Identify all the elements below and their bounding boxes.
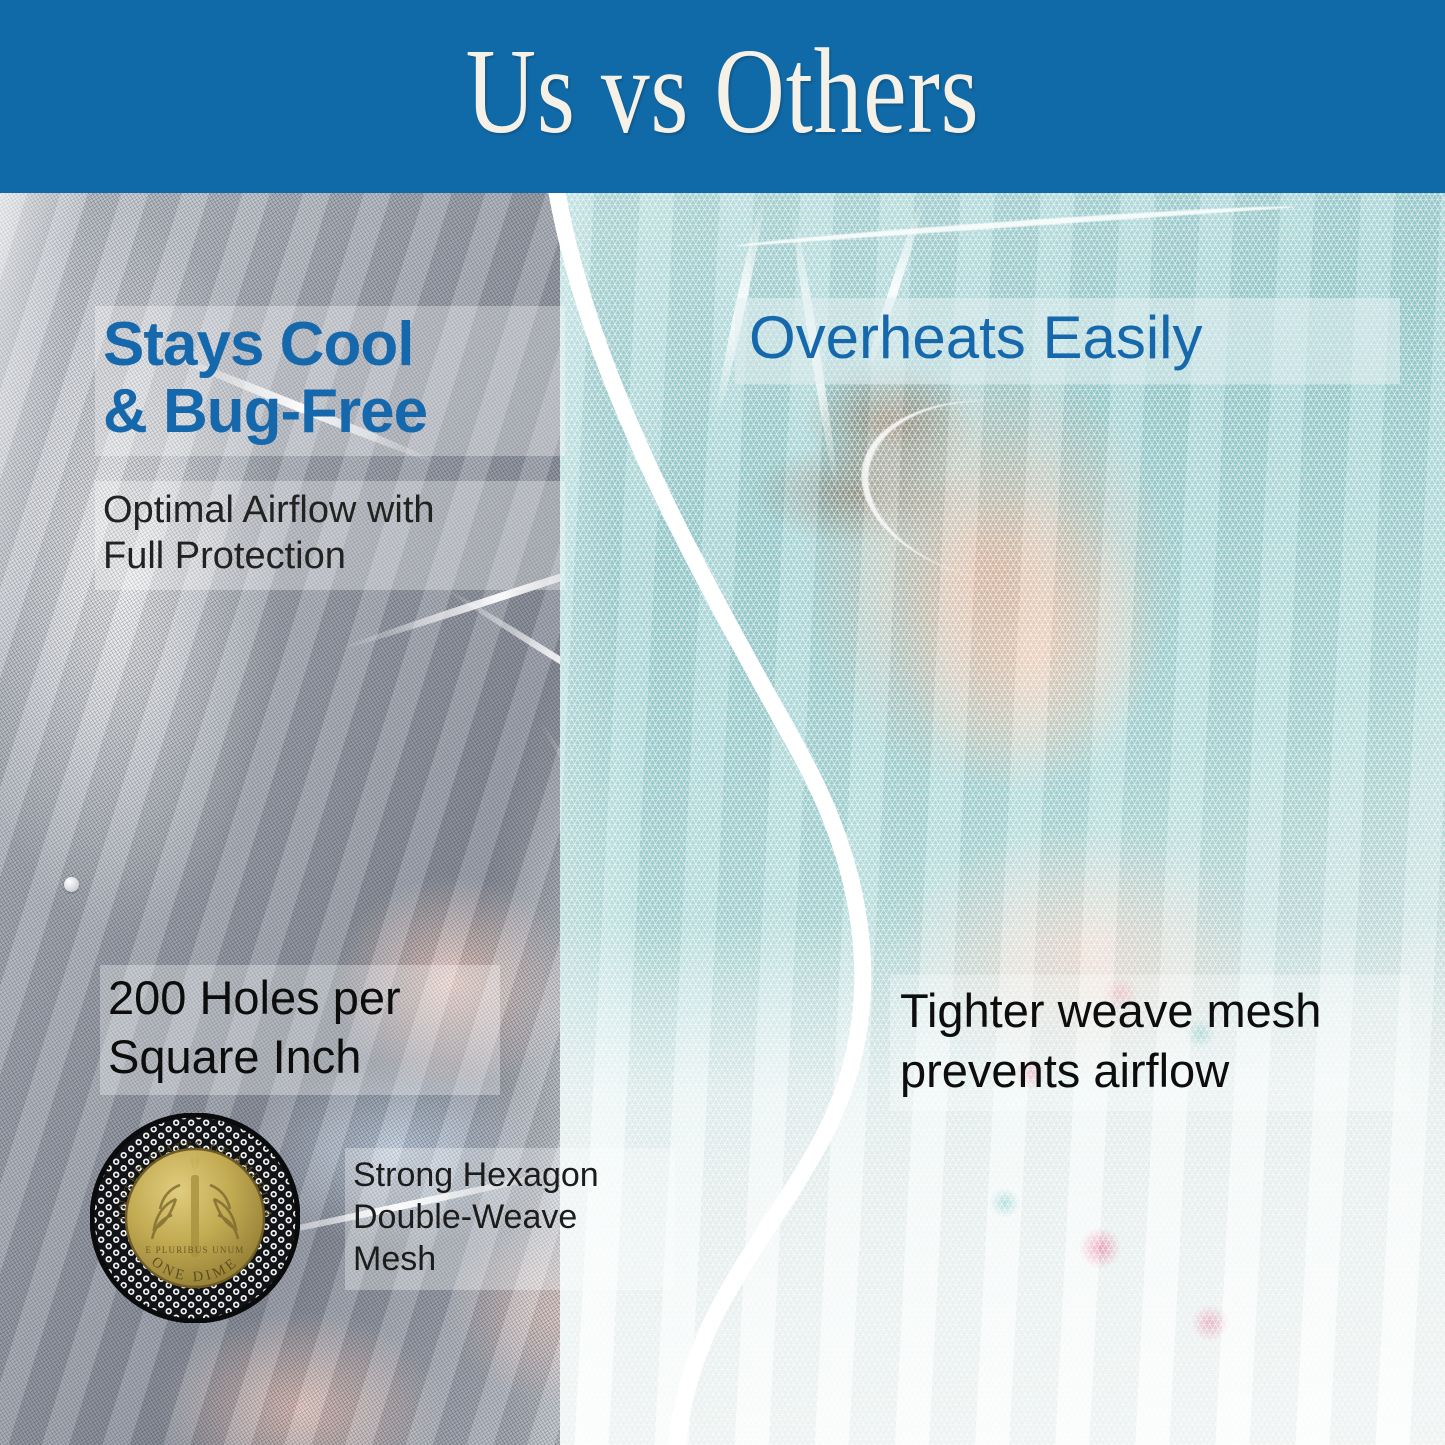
- snap-button-icon: [64, 877, 79, 892]
- left-panel-subheading: Optimal Airflow with Full Protection: [95, 481, 565, 590]
- coin-motto: E PLURIBUS UNUM: [145, 1245, 244, 1255]
- mesh-label-line-1: Strong Hexagon: [353, 1154, 665, 1196]
- panel-others: Overheats Easily Tighter weave mesh prev…: [560, 193, 1445, 1445]
- mesh-type-label: Strong Hexagon Double-Weave Mesh: [345, 1148, 675, 1290]
- holes-per-square-inch-stat: 200 Holes per Square Inch: [100, 965, 500, 1095]
- right-panel-caption: Tighter weave mesh prevents airflow: [890, 975, 1410, 1111]
- comparison-infographic: Us vs Others Stays Cool & Bug-Free: [0, 0, 1445, 1445]
- mesh-label-line-3: Mesh: [353, 1238, 665, 1280]
- left-sub-line-1: Optimal Airflow with: [103, 487, 555, 533]
- mesh-label-line-2: Double-Weave: [353, 1196, 665, 1238]
- hex-mesh-circle-icon: UNITED STATES OF AMERICA E PLURIBUS UNUM…: [90, 1113, 300, 1323]
- left-heading-line-2: & Bug-Free: [103, 379, 555, 446]
- right-caption-line-2: prevents airflow: [900, 1041, 1398, 1101]
- canopy-cord-icon: [847, 378, 1174, 607]
- right-caption-line-1: Tighter weave mesh: [900, 981, 1398, 1041]
- right-panel-heading: Overheats Easily: [735, 298, 1400, 384]
- left-heading-line-1: Stays Cool: [103, 312, 555, 379]
- left-panel-heading: Stays Cool & Bug-Free: [95, 306, 565, 456]
- left-sub-line-2: Full Protection: [103, 533, 555, 579]
- page-title: Us vs Others: [145, 0, 1301, 193]
- dime-on-hex-mesh-swatch: UNITED STATES OF AMERICA E PLURIBUS UNUM…: [90, 1113, 300, 1323]
- stat-line-2: Square Inch: [108, 1028, 490, 1087]
- header-banner: Us vs Others: [0, 0, 1445, 193]
- canopy-cord-icon: [735, 201, 1294, 252]
- panels-container: Stays Cool & Bug-Free Optimal Airflow wi…: [0, 193, 1445, 1445]
- stat-line-1: 200 Holes per: [108, 969, 490, 1028]
